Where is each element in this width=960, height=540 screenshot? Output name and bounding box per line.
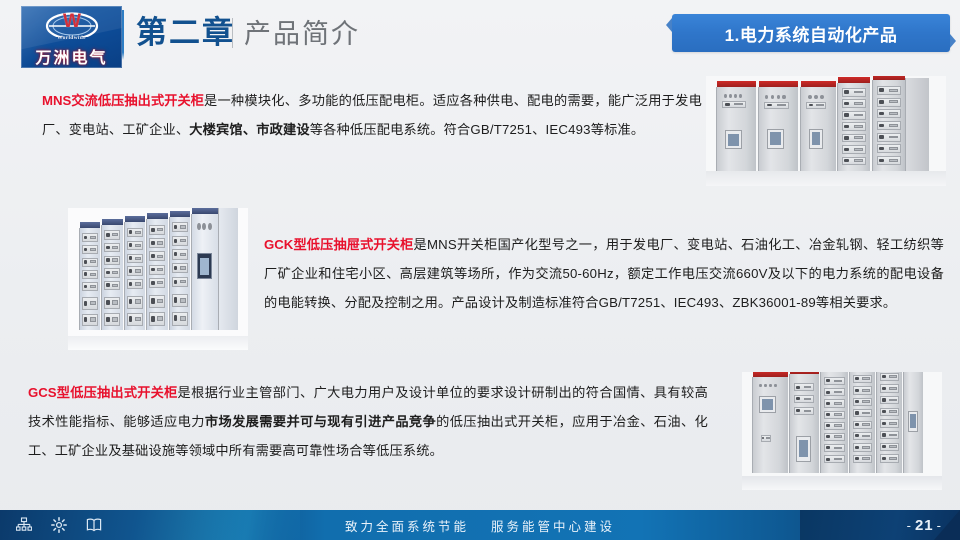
- logo-oval-icon: [45, 11, 99, 37]
- paragraph-gck-highlight: GCK型低压抽屉式开关柜: [264, 237, 413, 252]
- logo-chinese-text: 万洲电气: [21, 44, 122, 68]
- slide-footer: 致力全面系统节能 服务能管中心建设 - 21 -: [0, 510, 960, 540]
- slide-canvas: W Worldwide 万洲电气 第二章 产品简介 1.电力系统自动化产品 MN…: [0, 0, 960, 540]
- title-separator: [232, 18, 233, 48]
- paragraph-gcs-run-1: 市场发展需要并可与现有引进产品竞争: [205, 414, 436, 429]
- company-logo: W Worldwide 万洲电气: [21, 6, 122, 68]
- chapter-subtitle: 产品简介: [244, 15, 360, 53]
- logo-w-mark: W: [63, 12, 80, 31]
- page-number-value: 21: [912, 517, 937, 534]
- footer-slogans: 致力全面系统节能 服务能管中心建设: [0, 510, 960, 540]
- paragraph-gck: GCK型低压抽屉式开关柜是MNS开关柜国产化型号之一，用于发电厂、变电站、石油化…: [264, 230, 944, 317]
- header-divider: [122, 10, 124, 60]
- paragraph-mns-run-2: 等各种低压配电系统。符合GB/T7251、IEC493等标准。: [310, 122, 644, 137]
- page-number: - 21 -: [907, 510, 942, 540]
- mns-switchgear-photo: [706, 76, 946, 186]
- chapter-title: 第二章: [136, 13, 235, 53]
- gcs-switchgear-photo: [742, 372, 942, 490]
- logo-latin-text: Worldwide: [21, 35, 122, 41]
- paragraph-mns-run-1: 大楼宾馆、市政建设: [189, 122, 310, 137]
- slide-header: W Worldwide 万洲电气 第二章 产品简介 1.电力系统自动化产品: [0, 0, 960, 70]
- page-number-suffix: -: [937, 518, 942, 533]
- paragraph-gcs-highlight: GCS型低压抽出式开关柜: [28, 385, 177, 400]
- paragraph-mns: MNS交流低压抽出式开关柜是一种模块化、多功能的低压配电柜。适应各种供电、配电的…: [42, 86, 702, 144]
- paragraph-mns-highlight: MNS交流低压抽出式开关柜: [42, 93, 204, 108]
- section-badge: 1.电力系统自动化产品: [672, 14, 950, 52]
- paragraph-gcs: GCS型低压抽出式开关柜是根据行业主管部门、广大电力用户及设计单位的要求设计研制…: [28, 378, 708, 465]
- gck-switchgear-photo: [68, 208, 248, 350]
- section-badge-label: 1.电力系统自动化产品: [725, 21, 898, 46]
- footer-slogan-left: 致力全面系统节能: [345, 516, 469, 535]
- footer-slogan-right: 服务能管中心建设: [491, 516, 615, 535]
